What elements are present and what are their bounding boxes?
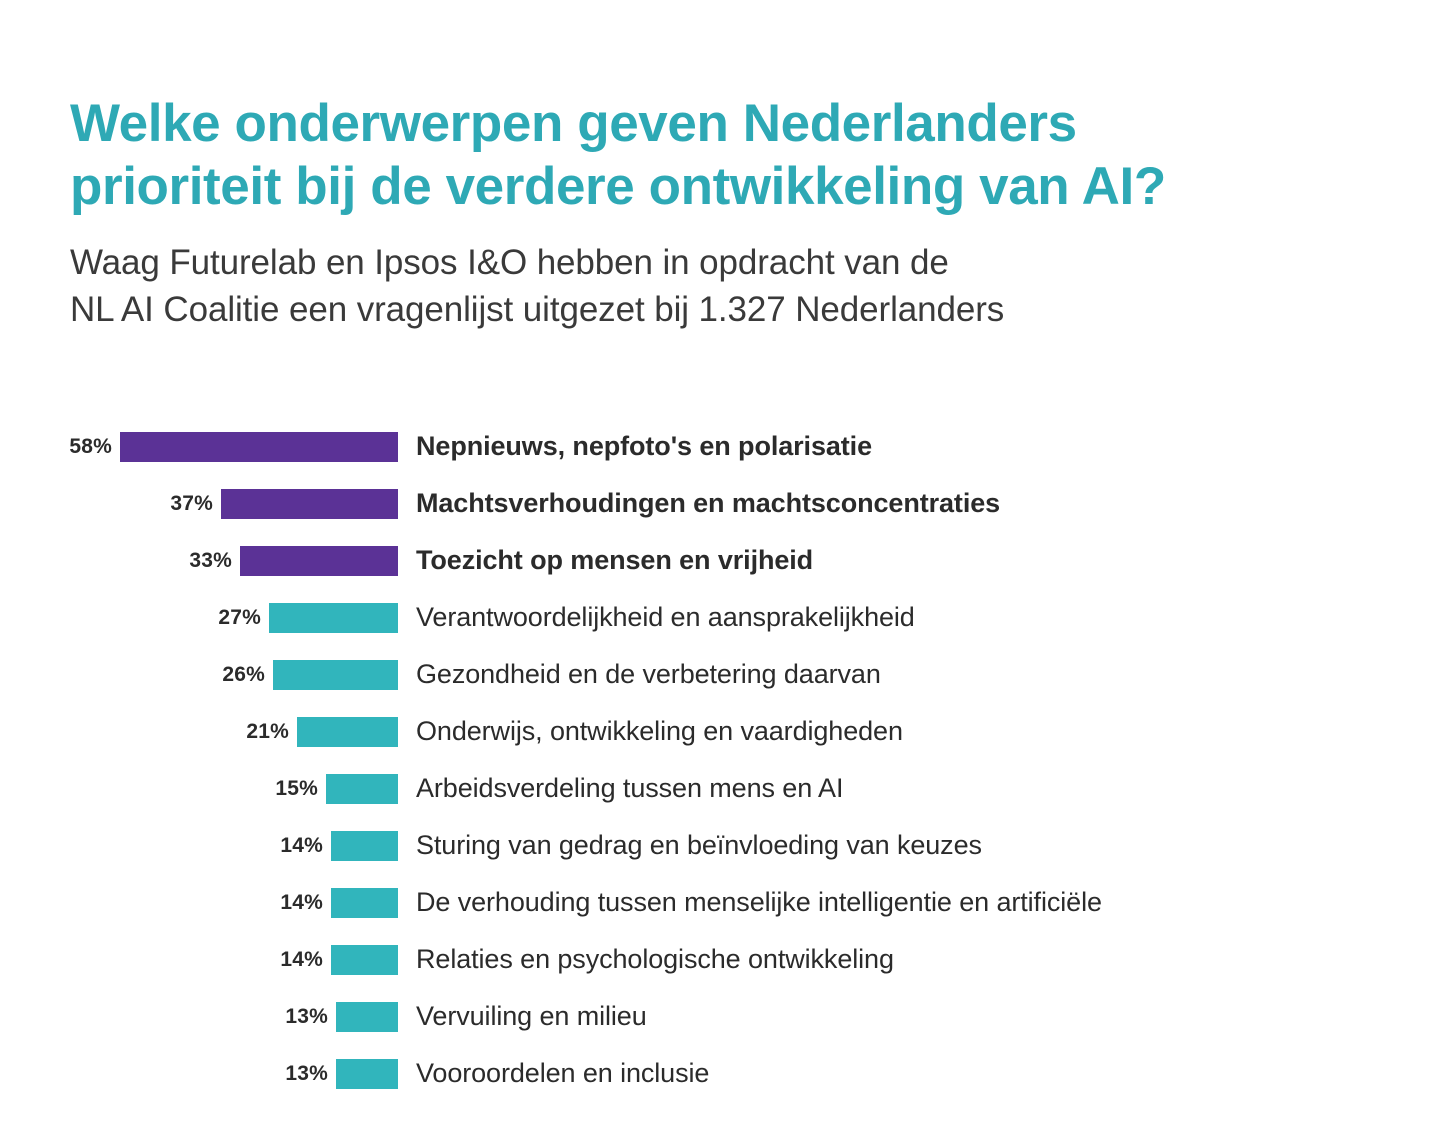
bar-chart: 58%Nepnieuws, nepfoto's en polarisatie37… bbox=[0, 418, 1440, 1102]
bar-fill bbox=[120, 432, 398, 462]
bar-row: 27%Verantwoordelijkheid en aansprakelijk… bbox=[0, 589, 1440, 646]
bar-value-label: 26% bbox=[222, 663, 265, 687]
bar-fill bbox=[221, 489, 398, 519]
infographic-root: Welke onderwerpen geven Nederlanders pri… bbox=[0, 0, 1440, 1126]
bar-fill bbox=[273, 660, 398, 690]
bar-category-label: Verantwoordelijkheid en aansprakelijkhei… bbox=[416, 604, 915, 631]
bar-value-label: 15% bbox=[275, 777, 318, 801]
bar-value-group: 13% bbox=[0, 988, 398, 1045]
bar-row: 13%Vervuiling en milieu bbox=[0, 988, 1440, 1045]
bar-value-group: 14% bbox=[0, 817, 398, 874]
page-title: Welke onderwerpen geven Nederlanders pri… bbox=[70, 92, 1420, 218]
bar-row: 14%Sturing van gedrag en beïnvloeding va… bbox=[0, 817, 1440, 874]
bar-category-label: Machtsverhoudingen en machtsconcentratie… bbox=[416, 490, 1000, 517]
bar-category-label: Vooroordelen en inclusie bbox=[416, 1060, 709, 1087]
bar-fill bbox=[336, 1059, 398, 1089]
bar-fill bbox=[336, 1002, 398, 1032]
bar-fill bbox=[269, 603, 398, 633]
bar-value-group: 58% bbox=[0, 418, 398, 475]
bar-category-label: Onderwijs, ontwikkeling en vaardigheden bbox=[416, 718, 903, 745]
header: Welke onderwerpen geven Nederlanders pri… bbox=[70, 92, 1420, 333]
bar-value-group: 15% bbox=[0, 760, 398, 817]
bar-value-group: 13% bbox=[0, 1045, 398, 1102]
bar-category-label: Relaties en psychologische ontwikkeling bbox=[416, 946, 894, 973]
bar-value-label: 13% bbox=[285, 1005, 328, 1029]
bar-fill bbox=[331, 945, 398, 975]
bar-category-label: Sturing van gedrag en beïnvloeding van k… bbox=[416, 832, 982, 859]
bar-value-label: 14% bbox=[280, 834, 323, 858]
bar-value-label: 58% bbox=[69, 435, 112, 459]
bar-value-label: 13% bbox=[285, 1062, 328, 1086]
bar-category-label: De verhouding tussen menselijke intellig… bbox=[416, 889, 1102, 916]
bar-category-label: Vervuiling en milieu bbox=[416, 1003, 647, 1030]
bar-fill bbox=[331, 888, 398, 918]
bar-value-label: 37% bbox=[170, 492, 213, 516]
bar-value-label: 33% bbox=[189, 549, 232, 573]
bar-row: 21%Onderwijs, ontwikkeling en vaardighed… bbox=[0, 703, 1440, 760]
bar-value-label: 21% bbox=[246, 720, 289, 744]
bar-row: 33%Toezicht op mensen en vrijheid bbox=[0, 532, 1440, 589]
bar-fill bbox=[326, 774, 398, 804]
bar-row: 15%Arbeidsverdeling tussen mens en AI bbox=[0, 760, 1440, 817]
bar-value-group: 26% bbox=[0, 646, 398, 703]
bar-row: 13%Vooroordelen en inclusie bbox=[0, 1045, 1440, 1102]
bar-row: 37%Machtsverhoudingen en machtsconcentra… bbox=[0, 475, 1440, 532]
bar-value-group: 37% bbox=[0, 475, 398, 532]
bar-category-label: Arbeidsverdeling tussen mens en AI bbox=[416, 775, 843, 802]
bar-category-label: Gezondheid en de verbetering daarvan bbox=[416, 661, 881, 688]
page-subtitle: Waag Futurelab en Ipsos I&O hebben in op… bbox=[70, 218, 1420, 333]
bar-category-label: Toezicht op mensen en vrijheid bbox=[416, 547, 813, 574]
bar-value-label: 27% bbox=[218, 606, 261, 630]
bar-value-group: 27% bbox=[0, 589, 398, 646]
bar-value-group: 33% bbox=[0, 532, 398, 589]
bar-fill bbox=[331, 831, 398, 861]
bar-row: 58%Nepnieuws, nepfoto's en polarisatie bbox=[0, 418, 1440, 475]
bar-fill bbox=[240, 546, 398, 576]
bar-value-group: 21% bbox=[0, 703, 398, 760]
bar-value-group: 14% bbox=[0, 931, 398, 988]
bar-row: 14%De verhouding tussen menselijke intel… bbox=[0, 874, 1440, 931]
bar-value-label: 14% bbox=[280, 948, 323, 972]
bar-row: 26%Gezondheid en de verbetering daarvan bbox=[0, 646, 1440, 703]
bar-category-label: Nepnieuws, nepfoto's en polarisatie bbox=[416, 433, 872, 460]
bar-fill bbox=[297, 717, 398, 747]
bar-value-label: 14% bbox=[280, 891, 323, 915]
bar-row: 14%Relaties en psychologische ontwikkeli… bbox=[0, 931, 1440, 988]
bar-value-group: 14% bbox=[0, 874, 398, 931]
